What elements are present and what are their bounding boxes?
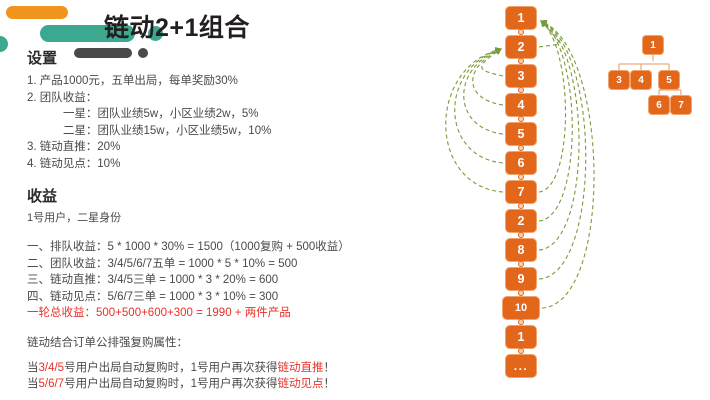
note-1-suffix: ！ [323,362,335,374]
right-arc-1 [539,21,559,47]
right-arc-10 [541,21,594,308]
left-arc-3 [473,49,503,105]
content-column: 设置 1. 产品1000元，五单出局，每单奖励30% 2. 团队收益： 一星：团… [27,50,447,393]
settings-item-star1: 一星：团队业绩5w，小区业绩2w，5% [27,106,447,123]
note-line-2: 当5/6/7号用户出局自动复购时，1号用户再次获得链动见点！ [27,376,447,393]
teal-dot-left-shape [0,36,8,52]
tree-l2-node-2[interactable]: 5 [658,70,680,90]
chain-node-11[interactable]: 1 [505,325,537,349]
tree-link-root [619,55,669,70]
chain-node-0[interactable]: 1 [505,6,537,30]
chain-arrows-svg [430,0,710,400]
chain-node-7[interactable]: 2 [505,209,537,233]
settings-item-star2: 二星：团队业绩15w，小区业绩5w，10% [27,123,447,140]
chain-node-9[interactable]: 9 [505,267,537,291]
page-title: 链动2+1组合 [104,8,250,44]
chain-node-6[interactable]: 7 [505,180,537,204]
chain-node-2[interactable]: 3 [505,64,537,88]
revenue-item-4: 四、链动见点：5/6/7三单 = 1000 * 3 * 10% = 300 [27,289,447,306]
chain-node-12[interactable]: ... [505,354,537,378]
note-1-em1: 3/4/5 [39,362,65,374]
revenue-total-value: ：500+500+600+300 = 1990 + 两件产品 [85,307,291,319]
right-arc-8 [539,21,579,250]
left-arc-6 [446,49,503,192]
revenue-item-2: 二、团队收益：3/4/5/6/7五单 = 1000 * 5 * 10% = 50… [27,256,447,273]
left-arc-4 [464,49,503,134]
note-2-suffix: ！ [323,378,335,390]
tree-root-node[interactable]: 1 [642,35,664,55]
note-2-mid: 号用户出局自动复购时，1号用户再次获得 [64,378,277,390]
tree-l3-node-1[interactable]: 7 [670,95,692,115]
revenue-total-row: 一轮总收益：500+500+600+300 = 1990 + 两件产品 [27,305,447,322]
tree-l2-node-1[interactable]: 4 [630,70,652,90]
revenue-heading: 收益 [27,188,447,205]
right-return-arrows [539,21,594,308]
note-1-em2: 链动直推 [277,362,323,374]
revenue-subtitle: 1号用户，二星身份 [27,211,447,226]
revenue-item-3: 三、链动直推：3/4/5三单 = 1000 * 3 * 20% = 600 [27,272,447,289]
chain-node-5[interactable]: 6 [505,151,537,175]
revenue-total-label: 一轮总收益 [27,307,85,319]
tree-l3-node-0[interactable]: 6 [648,95,670,115]
note-heading: 链动结合订单公排强复购属性： [27,335,447,352]
chain-diagram: 1234567289101... 134567 [430,0,710,400]
settings-item-1: 1. 产品1000元，五单出局，每单奖励30% [27,73,447,90]
slide-root: 链动2+1组合 设置 1. 产品1000元，五单出局，每单奖励30% 2. 团队… [0,0,710,400]
settings-item-3: 3. 链动直推：20% [27,139,447,156]
settings-item-4: 4. 链动见点：10% [27,156,447,173]
tree-l2-node-0[interactable]: 3 [608,70,630,90]
note-1-prefix: 当 [27,362,39,374]
chain-node-3[interactable]: 4 [505,93,537,117]
chain-node-8[interactable]: 8 [505,238,537,262]
note-1-mid: 号用户出局自动复购时，1号用户再次获得 [64,362,277,374]
settings-heading: 设置 [27,50,447,67]
chain-node-10[interactable]: 10 [502,296,540,320]
left-return-arrows [446,49,503,192]
chain-node-4[interactable]: 5 [505,122,537,146]
settings-item-2: 2. 团队收益： [27,90,447,107]
note-2-prefix: 当 [27,378,39,390]
revenue-item-1: 一、排队收益：5 * 1000 * 30% = 1500（1000复购 + 50… [27,239,447,256]
orange-pill-shape [6,6,68,19]
chain-node-1[interactable]: 2 [505,35,537,59]
note-2-em2: 链动见点 [277,378,323,390]
note-2-em1: 5/6/7 [39,378,65,390]
note-line-1: 当3/4/5号用户出局自动复购时，1号用户再次获得链动直推！ [27,360,447,377]
